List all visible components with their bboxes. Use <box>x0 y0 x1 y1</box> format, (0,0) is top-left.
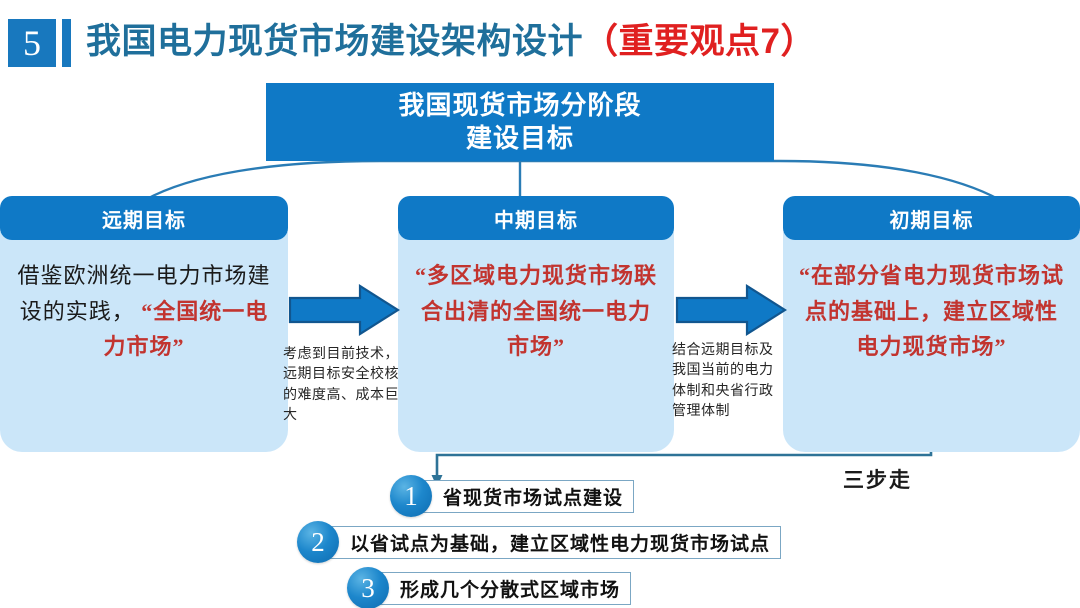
slide-canvas: 5 我国电力现货市场建设架构设计（重要观点7） 我国现货市场分阶段 建设目标 远… <box>0 0 1080 608</box>
page-title-main: 我国电力现货市场建设架构设计 <box>86 22 583 61</box>
goal-card-near-term-body: “在部分省电力现货市场试点的基础上，建立区域性电力现货市场” <box>783 232 1080 452</box>
goal-card-mid-term-header: 中期目标 <box>398 196 674 240</box>
flow-arrow-right-icon-1 <box>288 283 400 337</box>
goal-card-long-term[interactable]: 远期目标 借鉴欧洲统一电力市场建设的实践， “全国统一电力市场” <box>0 196 288 452</box>
slide-header: 5 我国电力现货市场建设架构设计（重要观点7） <box>0 0 1080 78</box>
goal-card-near-term[interactable]: 初期目标 “在部分省电力现货市场试点的基础上，建立区域性电力现货市场” <box>783 196 1080 452</box>
section-number-badge: 5 <box>8 19 56 67</box>
page-title: 我国电力现货市场建设架构设计（重要观点7） <box>86 18 816 66</box>
goal-card-near-term-header: 初期目标 <box>783 196 1080 240</box>
flow-arrow-right-icon-2 <box>675 283 787 337</box>
page-title-accent: （重要观点7） <box>583 22 816 61</box>
step-label-3: 形成几个分散式区域市场 <box>375 572 631 605</box>
connector-right-curve <box>780 161 1000 200</box>
three-step-label: 三步走 <box>843 464 912 494</box>
top-goal-line-2: 建设目标 <box>398 122 641 155</box>
connector-left-curve <box>145 161 380 200</box>
goal-card-mid-term[interactable]: 中期目标 “多区域电力现货市场联合出清的全国统一电力市场” <box>398 196 674 452</box>
goal-card-long-term-body: 借鉴欧洲统一电力市场建设的实践， “全国统一电力市场” <box>0 232 288 452</box>
step-item-3[interactable]: 3 形成几个分散式区域市场 <box>347 567 631 608</box>
goal-card-near-term-highlight: “在部分省电力现货市场试点的基础上，建立区域性电力现货市场” <box>799 263 1064 359</box>
step-number-badge-1: 1 <box>390 475 432 517</box>
step-label-1: 省现货市场试点建设 <box>418 480 634 513</box>
step-label-2: 以省试点为基础，建立区域性电力现货市场试点 <box>325 526 781 559</box>
step-item-1[interactable]: 1 省现货市场试点建设 <box>390 475 634 517</box>
annotation-note-2: 结合远期目标及我国当前的电力体制和央省行政管理体制 <box>672 341 778 422</box>
goal-card-mid-term-body: “多区域电力现货市场联合出清的全国统一电力市场” <box>398 232 674 452</box>
header-accent-bar <box>62 19 71 67</box>
step-number-badge-2: 2 <box>297 521 339 563</box>
goal-card-long-term-header: 远期目标 <box>0 196 288 240</box>
top-goal-line-1: 我国现货市场分阶段 <box>398 89 641 122</box>
top-goal-box: 我国现货市场分阶段 建设目标 <box>266 83 774 161</box>
annotation-note-1: 考虑到目前技术，远期目标安全校核的难度高、成本巨大 <box>283 345 401 426</box>
step-number-badge-3: 3 <box>347 567 389 608</box>
step-item-2[interactable]: 2 以省试点为基础，建立区域性电力现货市场试点 <box>297 521 781 563</box>
goal-card-mid-term-highlight: “多区域电力现货市场联合出清的全国统一电力市场” <box>415 263 657 359</box>
